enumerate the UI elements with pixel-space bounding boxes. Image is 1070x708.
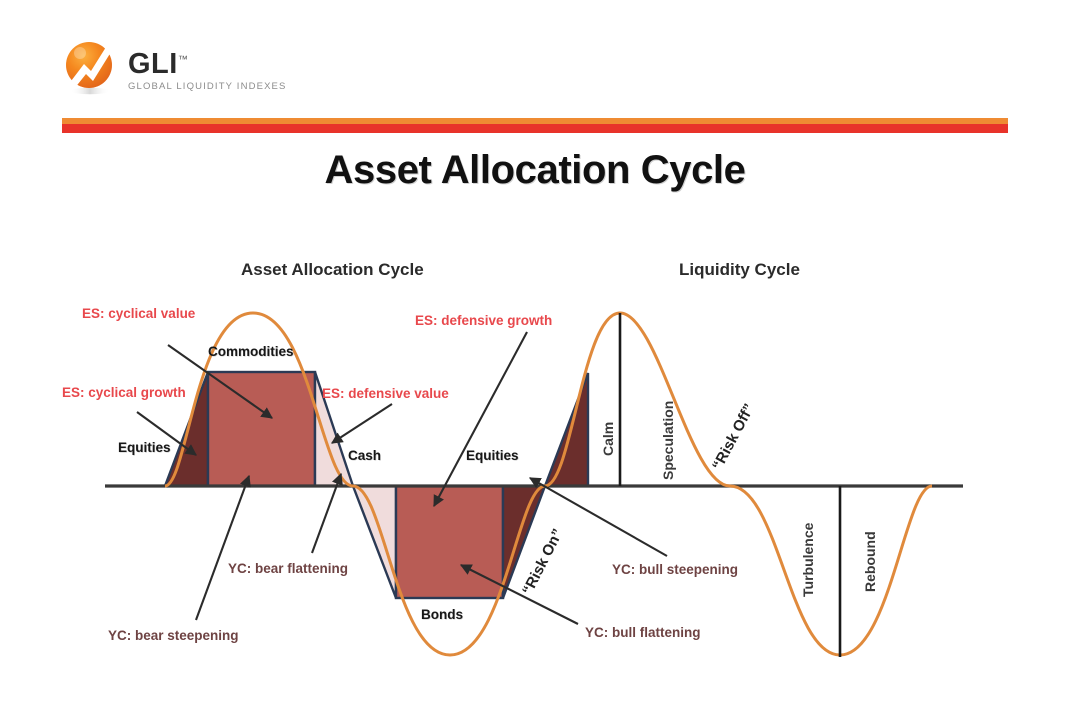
label-phase-turbulence: Turbulence [800, 523, 816, 597]
annotation-es-cyclical-growth: ES: cyclical growth [62, 385, 186, 400]
leader-es-defensive-value [332, 404, 392, 443]
label-phase-calm: Calm [600, 422, 616, 456]
annotation-es-cyclical-value: ES: cyclical value [82, 306, 195, 321]
block-cash-below [353, 486, 396, 598]
label-bonds: Bonds [421, 607, 463, 622]
block-bonds [396, 486, 503, 598]
label-commodities: Commodities [208, 344, 294, 359]
curve-liquidity-cycle [545, 313, 932, 655]
label-equities-top: Equities [118, 440, 171, 455]
label-phase-rebound: Rebound [862, 531, 878, 592]
slide-canvas: GLI™ GLOBAL LIQUIDITY INDEXES Asset Allo… [0, 0, 1070, 708]
annotation-yc-bull-flattening: YC: bull flattening [585, 625, 701, 640]
leader-yc-bear-steepening [196, 476, 249, 620]
label-cash: Cash [348, 448, 381, 463]
label-phase-speculation: Speculation [660, 401, 676, 480]
annotation-yc-bear-flattening: YC: bear flattening [228, 561, 348, 576]
annotation-es-defensive-growth: ES: defensive growth [415, 313, 552, 328]
annotation-yc-bull-steepening: YC: bull steepening [612, 562, 738, 577]
block-commodities [208, 372, 315, 486]
annotation-es-defensive-value: ES: defensive value [322, 386, 449, 401]
cycle-diagram-svg [0, 0, 1070, 708]
label-equities-bottom: Equities [466, 448, 519, 463]
annotation-yc-bear-steepening: YC: bear steepening [108, 628, 239, 643]
cycle-diagram [0, 0, 1070, 708]
leader-es-defensive-growth [434, 332, 527, 506]
